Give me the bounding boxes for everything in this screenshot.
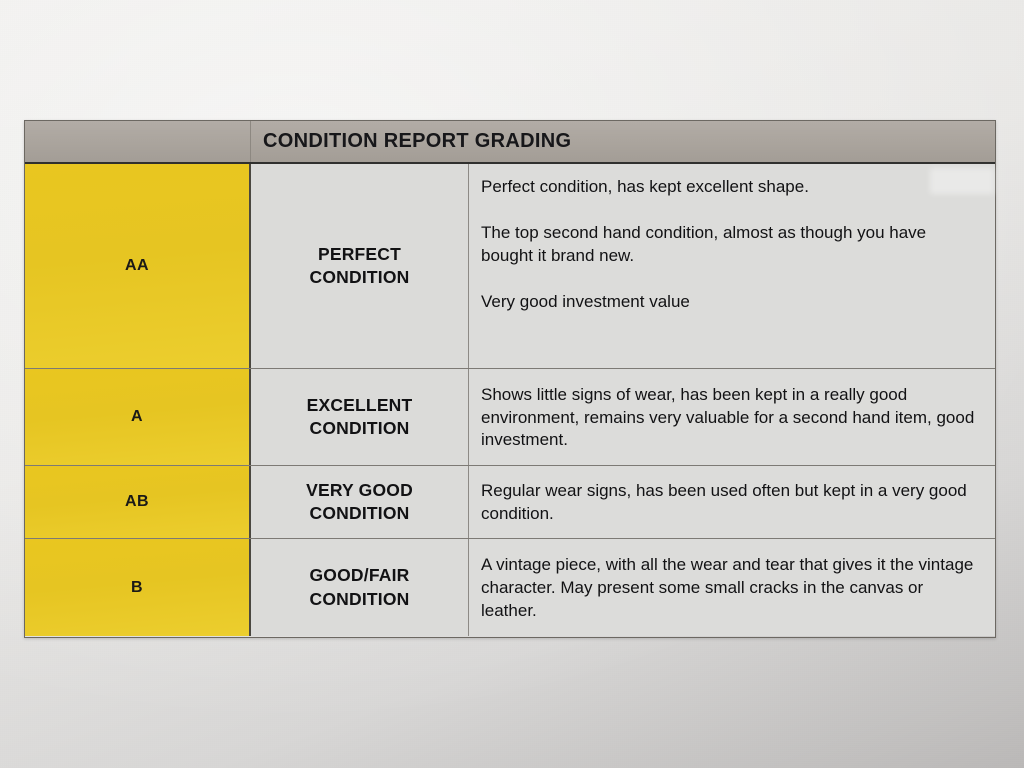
page-title: CONDITION REPORT GRADING (251, 130, 995, 153)
grade-label: A (131, 408, 143, 426)
condition-name-line-2: CONDITION (310, 266, 410, 289)
condition-description-cell-ab: Regular wear signs, has been used often … (469, 466, 995, 538)
table-row: A EXCELLENT CONDITION Shows little signs… (25, 369, 995, 466)
condition-report-grading-table: CONDITION REPORT GRADING AA PERFECT COND… (24, 120, 996, 638)
condition-name-line-2: CONDITION (310, 502, 410, 525)
condition-description-cell-b: A vintage piece, with all the wear and t… (469, 539, 995, 636)
condition-name-cell-aa: PERFECT CONDITION (251, 164, 469, 368)
condition-name-line-1: PERFECT (318, 243, 401, 266)
description-paragraph: Shows little signs of wear, has been kep… (481, 384, 979, 453)
description-paragraph: Very good investment value (481, 291, 979, 314)
table-header: CONDITION REPORT GRADING (25, 121, 995, 164)
grade-label: AB (125, 493, 149, 511)
condition-description-cell-aa: Perfect condition, has kept excellent sh… (469, 164, 995, 368)
grade-cell-aa: AA (25, 164, 251, 368)
condition-name-line-2: CONDITION (310, 417, 410, 440)
condition-name-cell-ab: VERY GOOD CONDITION (251, 466, 469, 538)
grade-cell-a: A (25, 369, 251, 465)
condition-name-cell-b: GOOD/FAIR CONDITION (251, 539, 469, 636)
table-row: AB VERY GOOD CONDITION Regular wear sign… (25, 466, 995, 539)
table-header-spacer (25, 121, 251, 162)
description-paragraph: The top second hand condition, almost as… (481, 222, 979, 268)
condition-name-cell-a: EXCELLENT CONDITION (251, 369, 469, 465)
condition-name-line-1: EXCELLENT (307, 394, 413, 417)
condition-description-cell-a: Shows little signs of wear, has been kep… (469, 369, 995, 465)
condition-name-line-1: GOOD/FAIR (310, 564, 410, 587)
table-row: AA PERFECT CONDITION Perfect condition, … (25, 164, 995, 369)
grade-cell-ab: AB (25, 466, 251, 538)
table-row: B GOOD/FAIR CONDITION A vintage piece, w… (25, 539, 995, 636)
grade-label: AA (125, 257, 149, 275)
condition-name-line-2: CONDITION (310, 588, 410, 611)
description-paragraph: Regular wear signs, has been used often … (481, 480, 979, 526)
condition-name-line-1: VERY GOOD (306, 479, 413, 502)
grade-cell-b: B (25, 539, 251, 636)
description-paragraph: A vintage piece, with all the wear and t… (481, 554, 979, 623)
description-paragraph: Perfect condition, has kept excellent sh… (481, 176, 979, 199)
grade-label: B (131, 579, 143, 597)
